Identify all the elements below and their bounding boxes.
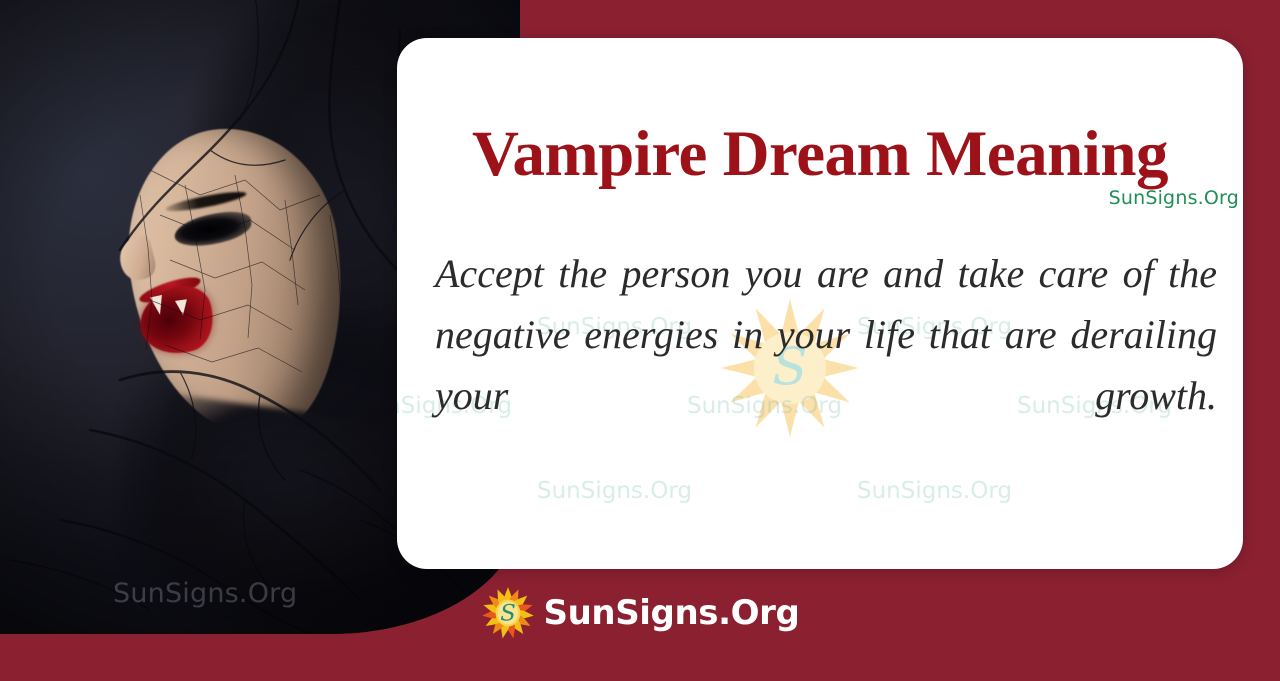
sun-logo-icon: S: [481, 586, 535, 640]
page-title-wrapper: Vampire Dream Meaning SunSigns.Org: [397, 122, 1243, 187]
page-title: Vampire Dream Meaning: [472, 122, 1168, 187]
footer-brand[interactable]: S SunSigns.Org: [0, 586, 1280, 640]
footer-brand-label: SunSigns.Org: [544, 593, 800, 633]
poster-canvas: SunSigns.Org: [0, 0, 1280, 681]
title-watermark: SunSigns.Org: [1109, 187, 1239, 209]
dream-meaning-text: Accept the person you are and take care …: [435, 244, 1217, 487]
content-card: S SunSigns.Org SunSigns.Org SunSigns.Org…: [397, 38, 1243, 569]
svg-text:S: S: [500, 601, 516, 627]
